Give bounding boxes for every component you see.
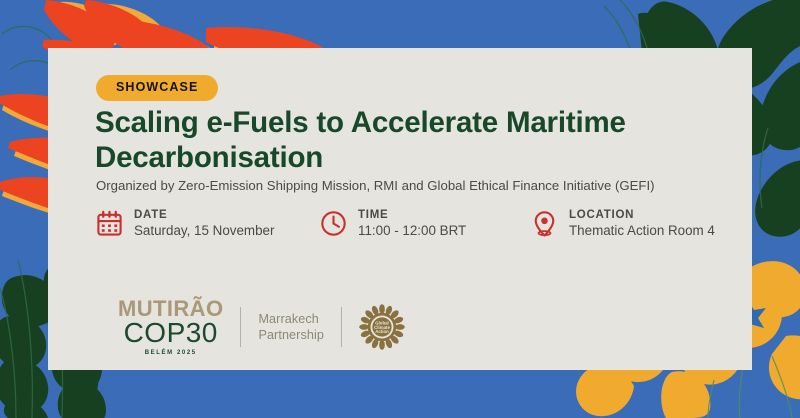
event-title-line-1: Scaling e-Fuels to Accelerate Maritime (95, 106, 715, 141)
detail-date-value: Saturday, 15 November (134, 222, 274, 239)
logo-divider-left (240, 307, 241, 347)
poster-canvas: SHOWCASE Scaling e-Fuels to Accelerate M… (0, 0, 800, 418)
detail-location-text: LOCATION Thematic Action Room 4 (569, 208, 715, 240)
calendar-icon (96, 210, 123, 237)
event-title-line-2: Decarbonisation (95, 141, 715, 176)
detail-location: LOCATION Thematic Action Room 4 (531, 208, 715, 240)
detail-date: DATE Saturday, 15 November (96, 208, 274, 240)
event-title: Scaling e-Fuels to Accelerate Maritime D… (95, 106, 715, 175)
marrakech-line-1: Marrakech (258, 311, 324, 327)
cop30-logo-cop: COP30 (124, 319, 218, 347)
map-pin-icon (531, 210, 558, 237)
cop30-logo: MUTIRÃO COP30 BELÉM 2025 (118, 298, 223, 356)
event-details-row: DATE Saturday, 15 November TIME 11:00 - … (96, 208, 756, 254)
footer-logos: MUTIRÃO COP30 BELÉM 2025 Marrakech Partn… (118, 298, 405, 356)
detail-time-label: TIME (358, 208, 466, 222)
cop30-logo-belem: BELÉM 2025 (145, 350, 197, 356)
detail-time: TIME 11:00 - 12:00 BRT (320, 208, 466, 240)
event-organizer: Organized by Zero-Emission Shipping Miss… (96, 177, 756, 194)
detail-location-value: Thematic Action Room 4 (569, 222, 715, 239)
marrakech-line-2: Partnership (258, 327, 324, 343)
event-card: SHOWCASE Scaling e-Fuels to Accelerate M… (48, 48, 752, 370)
global-climate-action-emblem: Global Climate Action (359, 304, 405, 350)
detail-date-label: DATE (134, 208, 274, 222)
emblem-text-line-3: Action (375, 329, 389, 334)
marrakech-partnership-logo: Marrakech Partnership (258, 311, 324, 343)
detail-time-text: TIME 11:00 - 12:00 BRT (358, 208, 466, 240)
detail-date-text: DATE Saturday, 15 November (134, 208, 274, 240)
logo-divider-right (341, 307, 342, 347)
detail-time-value: 11:00 - 12:00 BRT (358, 222, 466, 239)
clock-icon (320, 210, 347, 237)
showcase-badge: SHOWCASE (96, 75, 218, 101)
detail-location-label: LOCATION (569, 208, 715, 222)
